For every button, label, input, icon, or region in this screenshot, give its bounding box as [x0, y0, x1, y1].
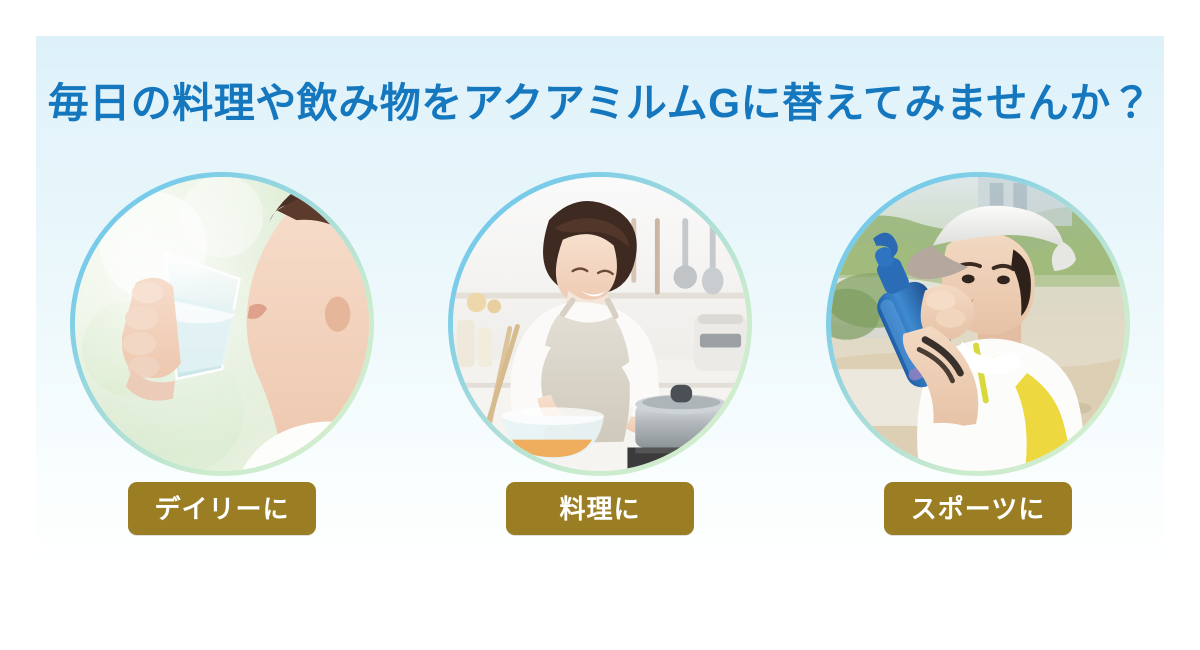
status-badge-daily: デイリーに — [128, 482, 316, 535]
status-badge-cooking: 料理に — [506, 482, 694, 535]
circle-ring-daily — [70, 172, 374, 476]
usage-scene-card-cooking[interactable]: 料理に — [440, 172, 760, 552]
woman-drinking-glass-of-water-photo — [75, 177, 369, 471]
usage-scene-card-sports[interactable]: スポーツに — [818, 172, 1138, 552]
banner-page: 毎日の料理や飲み物をアクアミルムGに替えてみませんか？ — [0, 0, 1200, 650]
usage-scene-card-list: デイリーに — [36, 172, 1164, 572]
promo-banner: 毎日の料理や飲み物をアクアミルムGに替えてみませんか？ — [36, 36, 1164, 614]
status-badge-sports: スポーツに — [884, 482, 1072, 535]
woman-cooking-in-kitchen-photo — [453, 177, 747, 471]
usage-scene-card-daily[interactable]: デイリーに — [62, 172, 382, 552]
page-title: 毎日の料理や飲み物をアクアミルムGに替えてみませんか？ — [36, 80, 1164, 127]
circle-ring-cooking — [448, 172, 752, 476]
man-drinking-sports-bottle-photo — [831, 177, 1125, 471]
circle-ring-sports — [826, 172, 1130, 476]
